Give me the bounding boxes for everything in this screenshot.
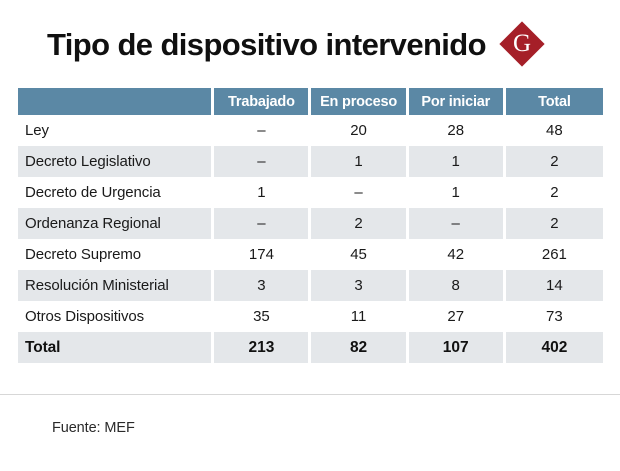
table-row: Decreto Supremo 174 45 42 261 (18, 239, 603, 270)
cell-trabajado: – (214, 208, 311, 239)
table-row: Otros Dispositivos 35 11 27 73 (18, 301, 603, 332)
cell-trabajado: 174 (214, 239, 311, 270)
cell-trabajado: 1 (214, 177, 311, 208)
cell-por-iniciar: 1 (409, 177, 506, 208)
table-row: Ordenanza Regional – 2 – 2 (18, 208, 603, 239)
cell-total: 14 (506, 270, 603, 301)
data-table-container: Trabajado En proceso Por iniciar Total L… (18, 88, 603, 363)
table-header-row: Trabajado En proceso Por iniciar Total (18, 88, 603, 115)
table-header: Trabajado En proceso Por iniciar Total (18, 88, 603, 115)
row-label: Decreto Legislativo (18, 146, 214, 177)
cell-trabajado: – (214, 146, 311, 177)
row-label: Decreto de Urgencia (18, 177, 214, 208)
cell-en-proceso: 11 (311, 301, 408, 332)
table-body: Ley – 20 28 48 Decreto Legislativo – 1 1… (18, 115, 603, 363)
total-row-label: Total (18, 332, 214, 363)
row-label: Ley (18, 115, 214, 146)
cell-total: 261 (506, 239, 603, 270)
table-row: Ley – 20 28 48 (18, 115, 603, 146)
column-header-category (18, 88, 214, 115)
cell-en-proceso: 3 (311, 270, 408, 301)
infographic-page: Tipo de dispositivo intervenido G Trabaj… (0, 0, 620, 471)
header: Tipo de dispositivo intervenido G (0, 0, 620, 88)
total-por-iniciar: 107 (409, 332, 506, 363)
source-note: Fuente: MEF (52, 420, 135, 436)
cell-en-proceso: 2 (311, 208, 408, 239)
row-label: Ordenanza Regional (18, 208, 214, 239)
column-header-por-iniciar: Por iniciar (409, 88, 506, 115)
cell-por-iniciar: 27 (409, 301, 506, 332)
cell-trabajado: 35 (214, 301, 311, 332)
column-header-total: Total (506, 88, 603, 115)
cell-por-iniciar: 42 (409, 239, 506, 270)
table-row: Resolución Ministerial 3 3 8 14 (18, 270, 603, 301)
total-trabajado: 213 (214, 332, 311, 363)
cell-trabajado: – (214, 115, 311, 146)
logo-letter: G (500, 22, 544, 66)
table-row: Decreto Legislativo – 1 1 2 (18, 146, 603, 177)
cell-por-iniciar: 8 (409, 270, 506, 301)
footer-divider (0, 394, 620, 395)
cell-total: 73 (506, 301, 603, 332)
cell-total: 2 (506, 146, 603, 177)
row-label: Otros Dispositivos (18, 301, 214, 332)
column-header-en-proceso: En proceso (311, 88, 408, 115)
row-label: Decreto Supremo (18, 239, 214, 270)
cell-por-iniciar: – (409, 208, 506, 239)
cell-total: 2 (506, 177, 603, 208)
cell-total: 48 (506, 115, 603, 146)
cell-en-proceso: – (311, 177, 408, 208)
gestion-logo: G (500, 22, 544, 66)
table-row: Decreto de Urgencia 1 – 1 2 (18, 177, 603, 208)
column-header-trabajado: Trabajado (214, 88, 311, 115)
total-en-proceso: 82 (311, 332, 408, 363)
cell-en-proceso: 45 (311, 239, 408, 270)
cell-total: 2 (506, 208, 603, 239)
data-table: Trabajado En proceso Por iniciar Total L… (18, 88, 603, 363)
cell-en-proceso: 1 (311, 146, 408, 177)
table-total-row: Total 213 82 107 402 (18, 332, 603, 363)
cell-por-iniciar: 28 (409, 115, 506, 146)
page-title: Tipo de dispositivo intervenido (47, 29, 486, 60)
total-grand: 402 (506, 332, 603, 363)
row-label: Resolución Ministerial (18, 270, 214, 301)
cell-en-proceso: 20 (311, 115, 408, 146)
cell-trabajado: 3 (214, 270, 311, 301)
cell-por-iniciar: 1 (409, 146, 506, 177)
